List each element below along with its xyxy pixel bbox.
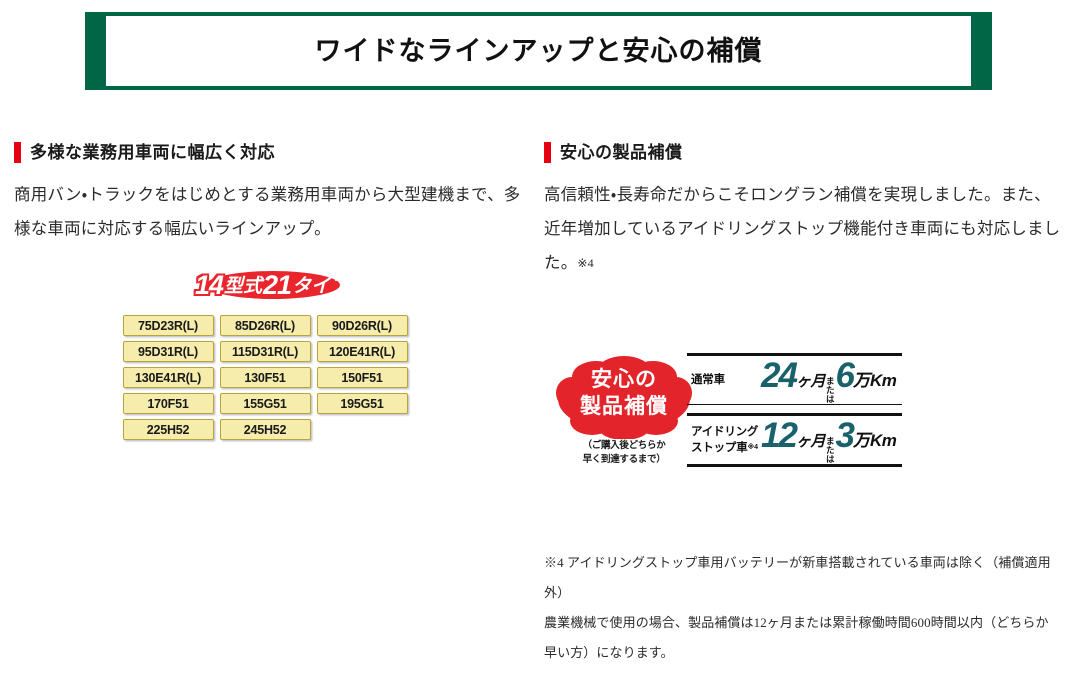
page-title: ワイドなラインアップと安心の補償 bbox=[315, 38, 763, 65]
model-row: 75D23R(L) 85D26R(L) 90D26R(L) bbox=[123, 315, 423, 336]
model-chip: 85D26R(L) bbox=[220, 315, 311, 336]
seal-subtext-line-2: 早く到達するまで） bbox=[556, 453, 692, 467]
model-row: 170F51 155G51 195G51 bbox=[123, 393, 423, 414]
warranty-terms: 通常車 24 ヶ月 ま た は 6 万 Km アイドリング ストップ車※4 12 bbox=[687, 353, 902, 467]
seal-line-1: 安心の bbox=[556, 369, 692, 390]
model-chip: 115D31R(L) bbox=[220, 341, 311, 362]
model-chip: 75D23R(L) bbox=[123, 315, 214, 336]
term-value-normal: 24 ヶ月 ま た は 6 万 Km bbox=[761, 356, 896, 405]
seal-subtext-line-1: （ご購入後どちらか bbox=[556, 439, 692, 453]
footnote-item: 農業機械で使用の場合、製品補償は12ヶ月または累計稼働時間600時間以内（どちら… bbox=[544, 608, 1060, 668]
term-distance-unit-km: Km bbox=[870, 372, 896, 389]
term-label-line-2-wrap: ストップ車※4 bbox=[691, 440, 761, 456]
term-or-separator: ま た は bbox=[826, 437, 835, 464]
model-chip: 130F51 bbox=[220, 367, 311, 388]
term-distance-unit-km: Km bbox=[870, 432, 896, 449]
model-chip: 225H52 bbox=[123, 419, 214, 440]
model-chip: 130E41R(L) bbox=[123, 367, 214, 388]
term-label-idling-stop-vehicle: アイドリング ストップ車※4 bbox=[687, 425, 761, 456]
model-chip: 150F51 bbox=[317, 367, 408, 388]
term-label-footnote-marker: ※4 bbox=[748, 444, 758, 451]
right-paragraph: 高信頼性・長寿命だからこそロングラン補償を実現しました。また、近年増加しているア… bbox=[544, 178, 1061, 280]
red-accent-bar-icon bbox=[14, 142, 21, 163]
term-value-idling-stop: 12 ヶ月 ま た は 3 万 Km bbox=[761, 416, 896, 465]
seal-text: 安心の 製品補償 bbox=[556, 369, 692, 417]
right-column: 安心の製品補償 高信頼性・長寿命だからこそロングラン補償を実現しました。また、近… bbox=[544, 140, 1061, 280]
right-paragraph-text: 高信頼性・長寿命だからこそロングラン補償を実現しました。また、近年増加しているア… bbox=[544, 185, 1060, 272]
term-distance-number: 6 bbox=[835, 358, 852, 393]
left-section-heading: 多様な業務用車両に幅広く対応 bbox=[14, 140, 531, 164]
model-chip: 90D26R(L) bbox=[317, 315, 408, 336]
model-chip: 245H52 bbox=[220, 419, 311, 440]
model-row: 130E41R(L) 130F51 150F51 bbox=[123, 367, 423, 388]
term-label-line-1: アイドリング bbox=[691, 425, 761, 440]
left-column: 多様な業務用車両に幅広く対応 商用バン・トラックをはじめとする業務用車両から大型… bbox=[14, 140, 531, 246]
model-chip: 120E41R(L) bbox=[317, 341, 408, 362]
term-months-number: 12 bbox=[761, 418, 796, 453]
term-months-unit: ヶ月 bbox=[796, 374, 825, 389]
term-label-normal-vehicle: 通常車 bbox=[687, 373, 761, 387]
warranty-seal: 安心の 製品補償 （ご購入後どちらか 早く到達するまで） bbox=[556, 355, 692, 475]
right-paragraph-footnote-marker: ※4 bbox=[577, 256, 593, 270]
model-row: 225H52 245H52 bbox=[123, 419, 423, 440]
warranty-term-row-idling-stop: アイドリング ストップ車※4 12 ヶ月 ま た は 3 万 Km bbox=[687, 413, 902, 467]
term-or-separator: ま た は bbox=[826, 377, 835, 404]
term-distance-unit-man: 万 bbox=[853, 432, 870, 449]
term-or-char-3: は bbox=[826, 455, 835, 464]
model-row: 95D31R(L) 115D31R(L) 120E41R(L) bbox=[123, 341, 423, 362]
lineup-ribbon: 14型式21タイプ bbox=[123, 265, 423, 305]
seal-line-2: 製品補償 bbox=[556, 396, 692, 417]
ribbon-text: 14型式21タイプ bbox=[123, 265, 423, 305]
red-accent-bar-icon bbox=[544, 142, 551, 163]
battery-model-grid: 75D23R(L) 85D26R(L) 90D26R(L) 95D31R(L) … bbox=[123, 315, 423, 440]
term-months-number: 24 bbox=[761, 358, 796, 393]
ribbon-type-label: タイプ bbox=[292, 277, 349, 296]
model-chip: 170F51 bbox=[123, 393, 214, 414]
ribbon-model-count: 14 bbox=[195, 272, 223, 299]
left-paragraph: 商用バン・トラックをはじめとする業務用車両から大型建機まで、多様な車両に対応する… bbox=[14, 178, 531, 246]
page-title-banner: ワイドなラインアップと安心の補償 bbox=[85, 12, 992, 90]
right-heading-text: 安心の製品補償 bbox=[560, 144, 683, 161]
warranty-term-row-normal: 通常車 24 ヶ月 ま た は 6 万 Km bbox=[687, 353, 902, 405]
seal-subtext: （ご購入後どちらか 早く到達するまで） bbox=[556, 439, 692, 467]
term-distance-unit-man: 万 bbox=[853, 372, 870, 389]
model-chip: 195G51 bbox=[317, 393, 408, 414]
term-label-line-2: ストップ車 bbox=[691, 442, 748, 454]
warranty-graphic: 安心の 製品補償 （ご購入後どちらか 早く到達するまで） 通常車 24 ヶ月 ま… bbox=[544, 345, 944, 475]
model-chip: 95D31R(L) bbox=[123, 341, 214, 362]
term-months-unit: ヶ月 bbox=[796, 434, 825, 449]
right-section-heading: 安心の製品補償 bbox=[544, 140, 1061, 164]
lineup-block: 14型式21タイプ 75D23R(L) 85D26R(L) 90D26R(L) … bbox=[14, 265, 531, 445]
footnote-item: ※4 アイドリングストップ車用バッテリーが新車搭載されている車両は除く（補償適用… bbox=[544, 548, 1060, 608]
ribbon-model-label: 型式 bbox=[224, 277, 262, 296]
left-heading-text: 多様な業務用車両に幅広く対応 bbox=[30, 144, 275, 161]
term-or-char-3: は bbox=[826, 395, 835, 404]
ribbon-type-count: 21 bbox=[263, 272, 291, 299]
footnotes: ※4 アイドリングストップ車用バッテリーが新車搭載されている車両は除く（補償適用… bbox=[544, 548, 1060, 668]
model-chip: 155G51 bbox=[220, 393, 311, 414]
term-distance-number: 3 bbox=[835, 418, 852, 453]
